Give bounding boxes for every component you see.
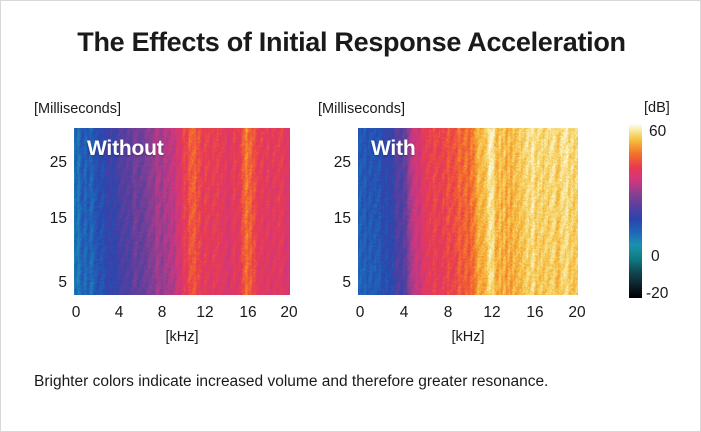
colorbar-gradient	[629, 123, 642, 298]
colorbar-title: [dB]	[644, 100, 670, 116]
x-tick-right-12: 12	[483, 304, 500, 322]
spectrogram-with[interactable]: With	[358, 128, 578, 295]
y-axis-unit-right: [Milliseconds]	[318, 101, 405, 117]
x-tick-right-16: 16	[526, 304, 543, 322]
colorbar-tick-mid: 0	[651, 248, 660, 266]
x-tick-left-8: 8	[158, 304, 167, 322]
x-tick-right-0: 0	[356, 304, 365, 322]
y-tick-left-25: 25	[39, 154, 67, 172]
colorbar-tick-max: 60	[649, 123, 666, 141]
x-tick-left-4: 4	[115, 304, 124, 322]
spectrogram-canvas-with	[358, 128, 578, 295]
y-tick-left-5: 5	[39, 274, 67, 292]
x-tick-right-20: 20	[568, 304, 585, 322]
page-title: The Effects of Initial Response Accelera…	[1, 27, 701, 58]
y-tick-right-25: 25	[323, 154, 351, 172]
y-axis-unit-left: [Milliseconds]	[34, 101, 121, 117]
spectrogram-canvas-without	[74, 128, 290, 295]
x-tick-right-4: 4	[400, 304, 409, 322]
x-axis-unit-right: [kHz]	[358, 329, 578, 345]
colorbar-tick-min: -20	[646, 285, 668, 303]
figure-root: The Effects of Initial Response Accelera…	[0, 0, 701, 432]
x-tick-left-20: 20	[280, 304, 297, 322]
figure-caption: Brighter colors indicate increased volum…	[34, 373, 548, 391]
x-tick-left-16: 16	[239, 304, 256, 322]
y-tick-right-5: 5	[323, 274, 351, 292]
x-tick-right-8: 8	[444, 304, 453, 322]
y-tick-left-15: 15	[39, 210, 67, 228]
x-tick-left-0: 0	[72, 304, 81, 322]
x-tick-left-12: 12	[196, 304, 213, 322]
colorbar	[629, 123, 699, 303]
x-axis-unit-left: [kHz]	[74, 329, 290, 345]
spectrogram-without[interactable]: Without	[74, 128, 290, 295]
y-tick-right-15: 15	[323, 210, 351, 228]
